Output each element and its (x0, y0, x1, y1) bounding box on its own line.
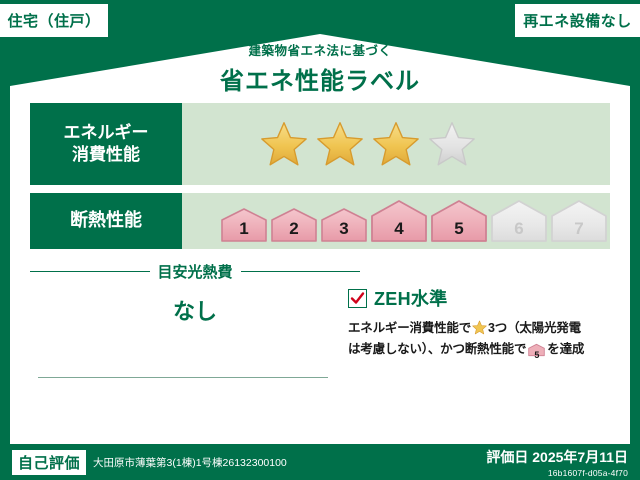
insulation-rating-area: 1 2 3 (182, 193, 610, 249)
insulation-level-4-number: 4 (370, 219, 428, 239)
rule-left (30, 271, 150, 272)
page-title: 省エネ性能ラベル (0, 61, 640, 96)
energy-label: 住宅（住戸） 再エネ設備なし 建築物省エネ法に基づく 省エネ性能ラベル エネルギ… (0, 0, 640, 480)
utility-cost-underline (38, 377, 328, 378)
zeh-description: エネルギー消費性能で3つ（太陽光発電 は考慮しない）、かつ断熱性能で5を達成 (348, 318, 620, 363)
zeh-desc-part3: は考慮しない）、かつ断熱性能で (348, 342, 526, 356)
insulation-level-6: 6 (490, 199, 548, 243)
insulation-level-1-number: 1 (220, 219, 268, 239)
insulation-performance-label: 断熱性能 (30, 193, 182, 249)
star-icon-inline (472, 320, 487, 335)
footer: 自己評価 大田原市薄葉第3(1棟)1号棟26132300100 評価日 2025… (0, 444, 640, 480)
utility-cost-heading: 目安光熱費 (30, 261, 360, 282)
badge-renewable-energy: 再エネ設備なし (515, 4, 640, 37)
insulation-level-4: 4 (370, 199, 428, 243)
energy-performance-row: エネルギー 消費性能 (30, 103, 610, 185)
zeh-title: ZEH水準 (374, 285, 448, 311)
zeh-desc-part4: を達成 (547, 342, 584, 356)
star-rating (260, 120, 476, 168)
zeh-title-row: ZEH水準 (348, 285, 620, 311)
star-icon-filled-3 (372, 120, 420, 168)
energy-performance-label: エネルギー 消費性能 (30, 103, 182, 185)
insulation-scale: 1 2 3 (220, 199, 608, 243)
zeh-desc-part2: 3つ（太陽光発電 (488, 321, 581, 335)
insulation-performance-row: 断熱性能 1 (30, 193, 610, 249)
self-evaluation-badge: 自己評価 (12, 450, 86, 475)
insulation-level-3-number: 3 (320, 219, 368, 239)
label-body-card: エネルギー 消費性能 (10, 89, 630, 444)
footer-left: 自己評価 大田原市薄葉第3(1棟)1号棟26132300100 (12, 450, 287, 475)
insulation-level-7: 7 (550, 199, 608, 243)
insulation-level-2: 2 (270, 207, 318, 243)
energy-rating-area (182, 103, 610, 185)
document-id: 16b1607f-d05a-4f70 (486, 468, 628, 478)
insulation-level-7-number: 7 (550, 219, 608, 239)
star-icon-filled-2 (316, 120, 364, 168)
label-heading: 建築物省エネ法に基づく 省エネ性能ラベル (0, 40, 640, 96)
utility-cost-value: なし (30, 294, 360, 326)
badge-building-type: 住宅（住戸） (0, 4, 108, 37)
house-icon-inline: 5 (528, 343, 545, 364)
star-icon-empty-4 (428, 120, 476, 168)
energy-label-line1: エネルギー (64, 122, 149, 144)
insulation-level-3: 3 (320, 207, 368, 243)
insulation-level-6-number: 6 (490, 219, 548, 239)
energy-label-line2: 消費性能 (72, 144, 140, 166)
evaluation-date: 評価日 2025年7月11日 (486, 447, 628, 467)
star-icon-filled-1 (260, 120, 308, 168)
rule-right (241, 271, 361, 272)
zeh-checkbox[interactable] (348, 289, 367, 308)
insulation-level-1: 1 (220, 207, 268, 243)
property-address: 大田原市薄葉第3(1棟)1号棟26132300100 (93, 455, 287, 470)
zeh-desc-part1: エネルギー消費性能で (348, 321, 471, 335)
insulation-level-5-number: 5 (430, 219, 488, 239)
utility-cost-heading-text: 目安光熱費 (158, 261, 233, 282)
zeh-section: ZEH水準 エネルギー消費性能で3つ（太陽光発電 は考慮しない）、かつ断熱性能で… (348, 285, 620, 363)
footer-right: 評価日 2025年7月11日 16b1607f-d05a-4f70 (486, 447, 628, 478)
house-icon-inline-number: 5 (528, 348, 545, 363)
insulation-level-5: 5 (430, 199, 488, 243)
insulation-level-2-number: 2 (270, 219, 318, 239)
heading-subtitle: 建築物省エネ法に基づく (0, 40, 640, 59)
check-icon (350, 291, 365, 306)
